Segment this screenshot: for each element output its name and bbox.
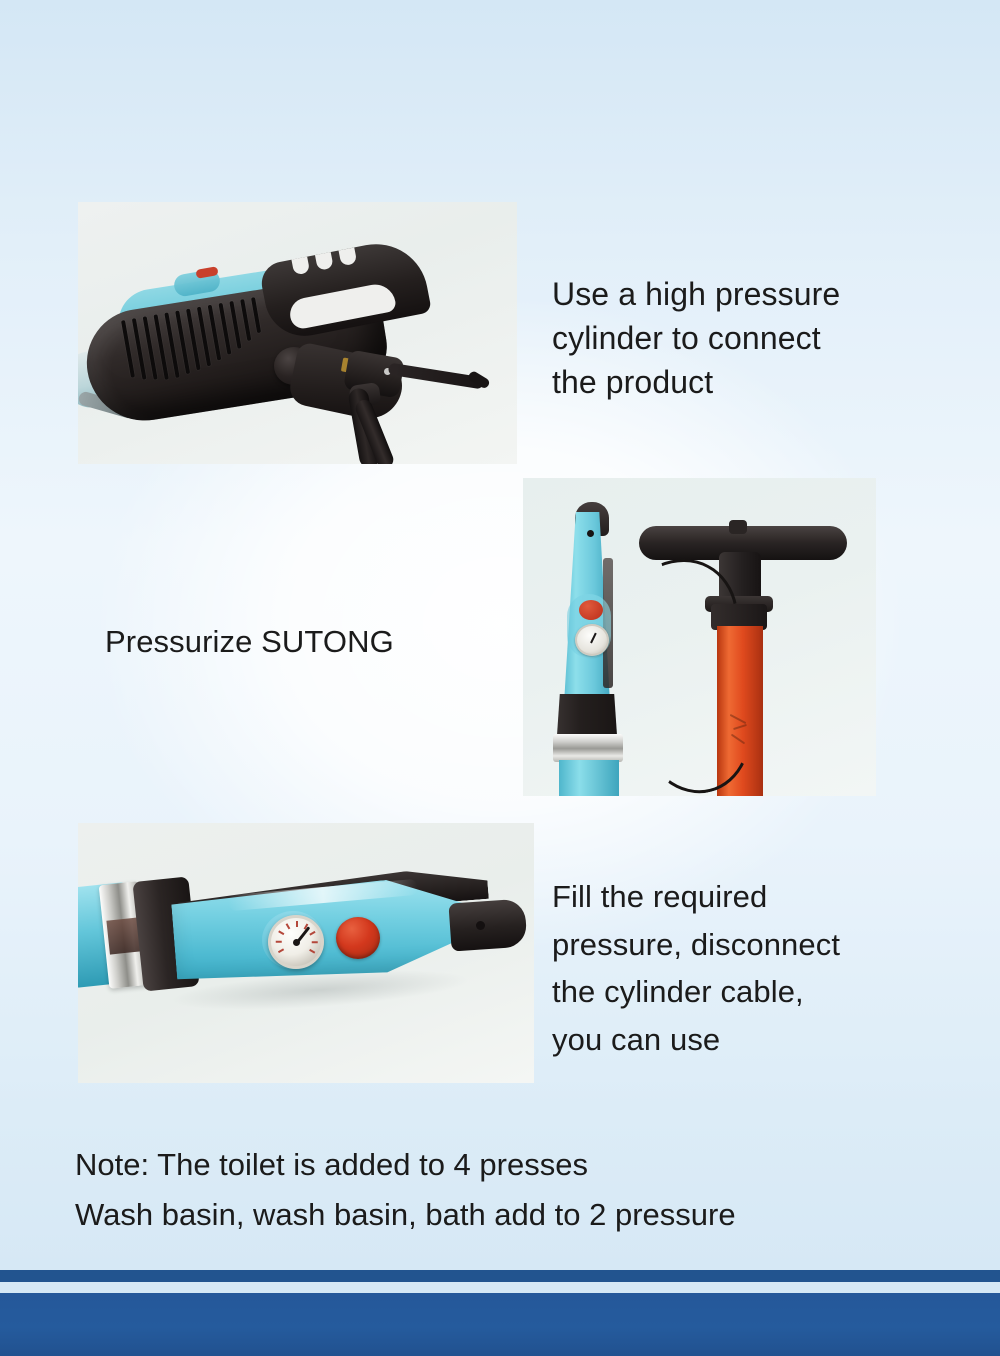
step-3-caption-line-4: you can use — [552, 1016, 840, 1064]
step-3-caption-line-1: Fill the required — [552, 873, 840, 921]
wand-pressure-gauge — [575, 624, 609, 656]
step-2-caption-line-1: Pressurize SUTONG — [105, 620, 394, 664]
gauge-hub — [293, 939, 300, 946]
wand-vent-hole — [587, 530, 594, 537]
step-3-caption-line-2: pressure, disconnect — [552, 921, 840, 969]
footer-thin-bar — [0, 1270, 1000, 1282]
pump-handle-clip — [729, 520, 747, 534]
closeup-red-release-button — [336, 917, 380, 959]
closeup-black-tip — [448, 898, 527, 951]
wand-closeup-photo — [78, 823, 534, 1083]
note-text: Note: The toilet is added to 4 presses W… — [75, 1140, 736, 1240]
wand-chrome-collar — [553, 734, 623, 762]
step-1-caption-line-2: cylinder to connect — [552, 316, 840, 360]
step-1-caption-line-1: Use a high pressure — [552, 272, 840, 316]
closeup-pressure-gauge — [268, 915, 324, 969]
wand-red-button — [579, 600, 603, 620]
step-1-caption: Use a high pressure cylinder to connect … — [552, 272, 840, 404]
note-line-2: Wash basin, wash basin, bath add to 2 pr… — [75, 1190, 736, 1240]
wand-and-pump-photo — [523, 478, 876, 796]
note-line-1: Note: The toilet is added to 4 presses — [75, 1140, 736, 1190]
step-3-caption-line-3: the cylinder cable, — [552, 968, 840, 1016]
footer-thick-bar — [0, 1293, 1000, 1356]
infographic-page: Use a high pressure cylinder to connect … — [0, 0, 1000, 1356]
gun-finger-hook — [258, 235, 432, 342]
spray-gun-photo — [78, 202, 517, 464]
wand-lower-tube — [559, 760, 619, 796]
closeup-tip-hole — [476, 921, 485, 930]
step-3-caption: Fill the required pressure, disconnect t… — [552, 873, 840, 1063]
step-2-caption: Pressurize SUTONG — [105, 620, 394, 664]
step-1-caption-line-3: the product — [552, 360, 840, 404]
